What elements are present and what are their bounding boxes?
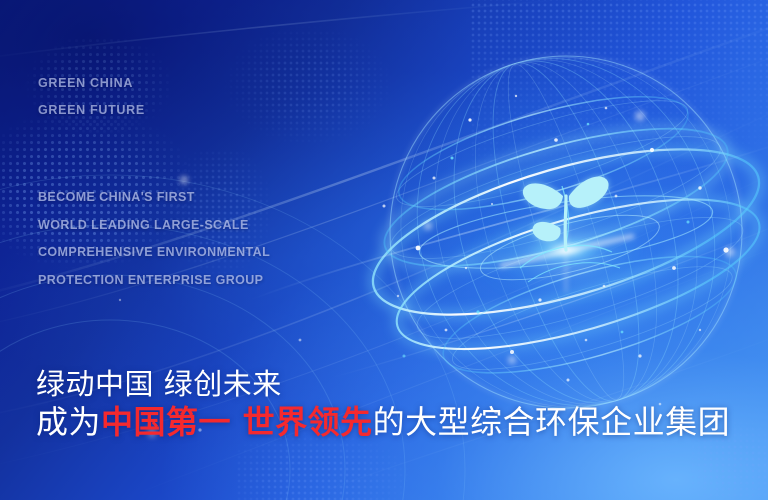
tagline-mission-line-1: BECOME CHINA'S FIRST — [38, 184, 270, 212]
tagline-mission-line-2: WORLD LEADING LARGE-SCALE — [38, 212, 270, 240]
tagline-mission-line-3: COMPREHENSIVE ENVIRONMENTAL — [38, 239, 270, 267]
tagline-top: GREEN CHINA GREEN FUTURE — [38, 70, 145, 124]
headline: 绿动中国 绿创未来 成为中国第一 世界领先的大型综合环保企业集团 — [36, 366, 730, 443]
headline-prefix: 成为 — [36, 403, 101, 441]
tagline-top-line-1: GREEN CHINA — [38, 70, 145, 97]
hero-banner: GREEN CHINA GREEN FUTURE BECOME CHINA'S … — [0, 0, 768, 500]
tagline-mission: BECOME CHINA'S FIRST WORLD LEADING LARGE… — [38, 184, 270, 294]
headline-line-2: 成为中国第一 世界领先的大型综合环保企业集团 — [36, 402, 730, 443]
halftone-map-dots — [470, 0, 768, 180]
headline-accent: 中国第一 世界领先 — [101, 403, 373, 441]
headline-suffix: 的大型综合环保企业集团 — [373, 403, 731, 441]
headline-line-1: 绿动中国 绿创未来 — [36, 366, 730, 402]
halftone-map-dots — [198, 18, 398, 168]
tagline-mission-line-4: PROTECTION ENTERPRISE GROUP — [38, 267, 270, 295]
tagline-top-line-2: GREEN FUTURE — [38, 97, 145, 124]
